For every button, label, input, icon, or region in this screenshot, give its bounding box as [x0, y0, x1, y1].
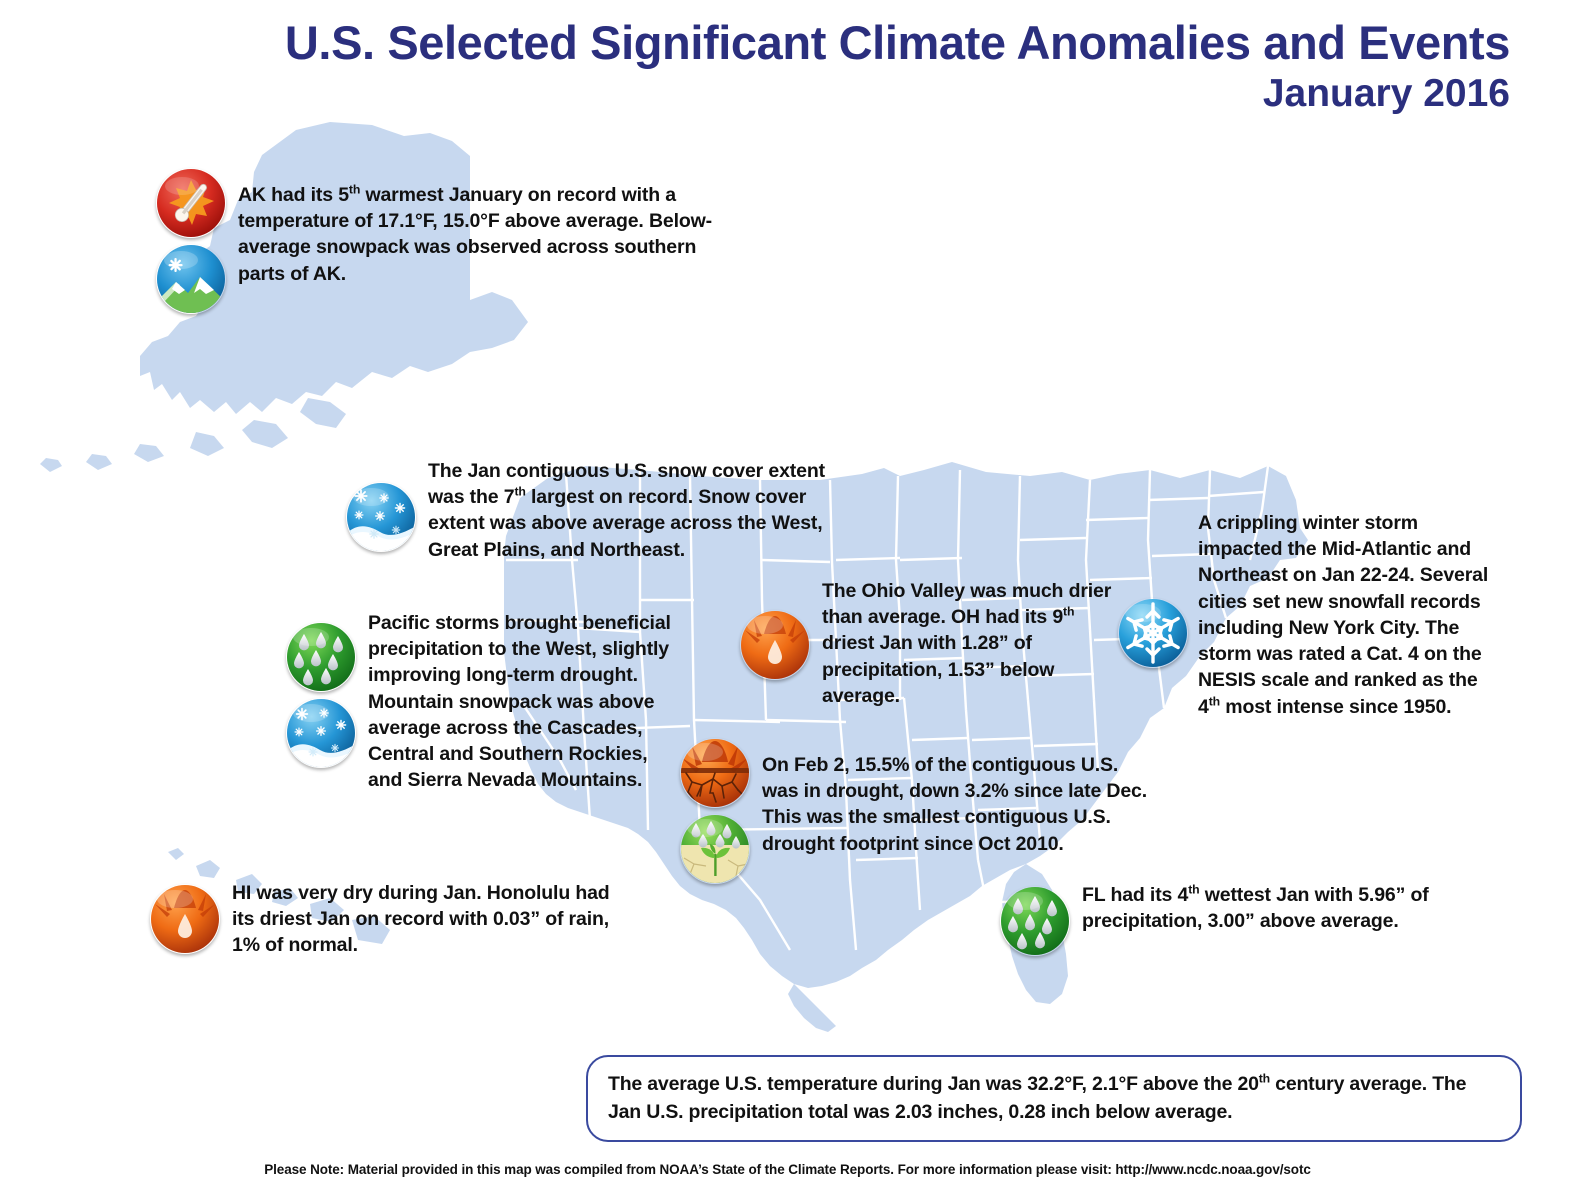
- rain-drops-icon: [1000, 886, 1070, 956]
- sprout-rain-icon: [680, 814, 750, 884]
- icon-column: [346, 458, 416, 552]
- title-block: U.S. Selected Significant Climate Anomal…: [0, 18, 1510, 115]
- footer-note: Please Note: Material provided in this m…: [0, 1162, 1575, 1177]
- snowflakes-drift-icon: [346, 482, 416, 552]
- callout-florida-text: FL had its 4th wettest Jan with 5.96” of…: [1082, 882, 1430, 934]
- big-snowflake-icon: [1118, 598, 1188, 668]
- page-subtitle: January 2016: [0, 72, 1510, 116]
- icon-column: [150, 880, 220, 954]
- icon-column: [156, 168, 226, 314]
- callout-drought-footprint: On Feb 2, 15.5% of the contiguous U.S. w…: [680, 738, 1150, 884]
- callout-alaska: AK had its 5th warmest January on record…: [156, 168, 736, 314]
- icon-column: [680, 738, 750, 884]
- icon-column: [286, 608, 356, 768]
- callout-drought-text: On Feb 2, 15.5% of the contiguous U.S. w…: [762, 738, 1150, 857]
- icon-column: [740, 578, 810, 680]
- callout-ohio-valley-dry: The Ohio Valley was much drier than aver…: [740, 578, 1120, 709]
- callout-alaska-text: AK had its 5th warmest January on record…: [238, 168, 736, 287]
- snowpack-mountain-icon: [156, 244, 226, 314]
- summary-text: The average U.S. temperature during Jan …: [608, 1071, 1502, 1126]
- callout-northeast-winter-storm: A crippling winter storm impacted the Mi…: [1118, 510, 1498, 720]
- callout-ohio-valley-text: The Ohio Valley was much drier than aver…: [822, 578, 1120, 709]
- icon-column: [1118, 510, 1188, 668]
- callout-pacific-storms-text: Pacific storms brought beneficial precip…: [368, 608, 686, 794]
- callout-hawaii-text: HI was very dry during Jan. Honolulu had…: [232, 880, 620, 959]
- cracked-earth-drought-icon: [680, 738, 750, 808]
- thermometer-hot-icon: [156, 168, 226, 238]
- callout-pacific-storms-west: Pacific storms brought beneficial precip…: [286, 608, 686, 794]
- icon-column: [1000, 882, 1070, 956]
- callout-snow-cover-text: The Jan contiguous U.S. snow cover exten…: [428, 458, 866, 563]
- page-title: U.S. Selected Significant Climate Anomal…: [0, 18, 1510, 68]
- callout-northeast-storm-text: A crippling winter storm impacted the Mi…: [1198, 510, 1498, 720]
- callout-snow-cover-extent: The Jan contiguous U.S. snow cover exten…: [346, 458, 866, 563]
- snowflakes-drift-icon: [286, 698, 356, 768]
- callout-hawaii-dry: HI was very dry during Jan. Honolulu had…: [150, 880, 620, 959]
- dry-sun-drop-icon: [740, 610, 810, 680]
- summary-box: The average U.S. temperature during Jan …: [586, 1055, 1522, 1142]
- callout-florida-wet: FL had its 4th wettest Jan with 5.96” of…: [1000, 882, 1430, 956]
- rain-drops-icon: [286, 622, 356, 692]
- dry-sun-drop-icon: [150, 884, 220, 954]
